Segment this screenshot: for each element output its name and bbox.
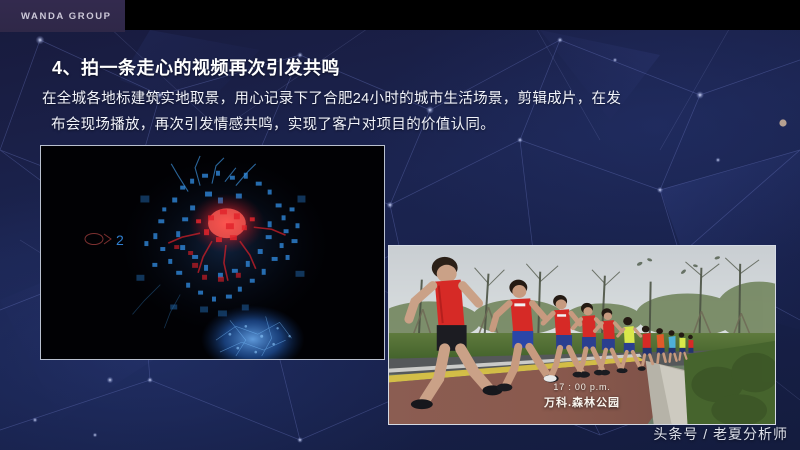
presentation-slide: WANDA GROUP 4、拍一条走心的视频再次引发共鸣 在全城各地标建筑实地取… bbox=[0, 0, 800, 450]
brand-label: WANDA GROUP bbox=[0, 11, 112, 22]
body-paragraph: 在全城各地标建筑实地取景，用心记录下了合肥24小时的城市生活场景，剪辑成片，在发… bbox=[42, 86, 682, 138]
body-line-1: 在全城各地标建筑实地取景，用心记录下了合肥24小时的城市生活场景，剪辑成片，在发 bbox=[42, 86, 682, 112]
watermark: 头条号 / 老夏分析师 bbox=[653, 424, 788, 444]
runners-photo-canvas bbox=[389, 246, 775, 424]
city-data-visualization-image: 2 bbox=[40, 145, 385, 360]
wanda-group-brand-box: WANDA GROUP bbox=[0, 0, 125, 32]
viz-logo-mark: 2 bbox=[83, 229, 137, 249]
page-title: 4、拍一条走心的视频再次引发共鸣 bbox=[52, 54, 340, 80]
body-line-2: 布会现场播放，再次引发情感共鸣，实现了客户对项目的价值认同。 bbox=[42, 112, 682, 138]
viz-logo-digit: 2 bbox=[116, 232, 124, 248]
runners-photo: 17 : 00 p.m. 万科.森林公园 bbox=[388, 245, 776, 425]
city-viz-canvas bbox=[41, 146, 384, 359]
